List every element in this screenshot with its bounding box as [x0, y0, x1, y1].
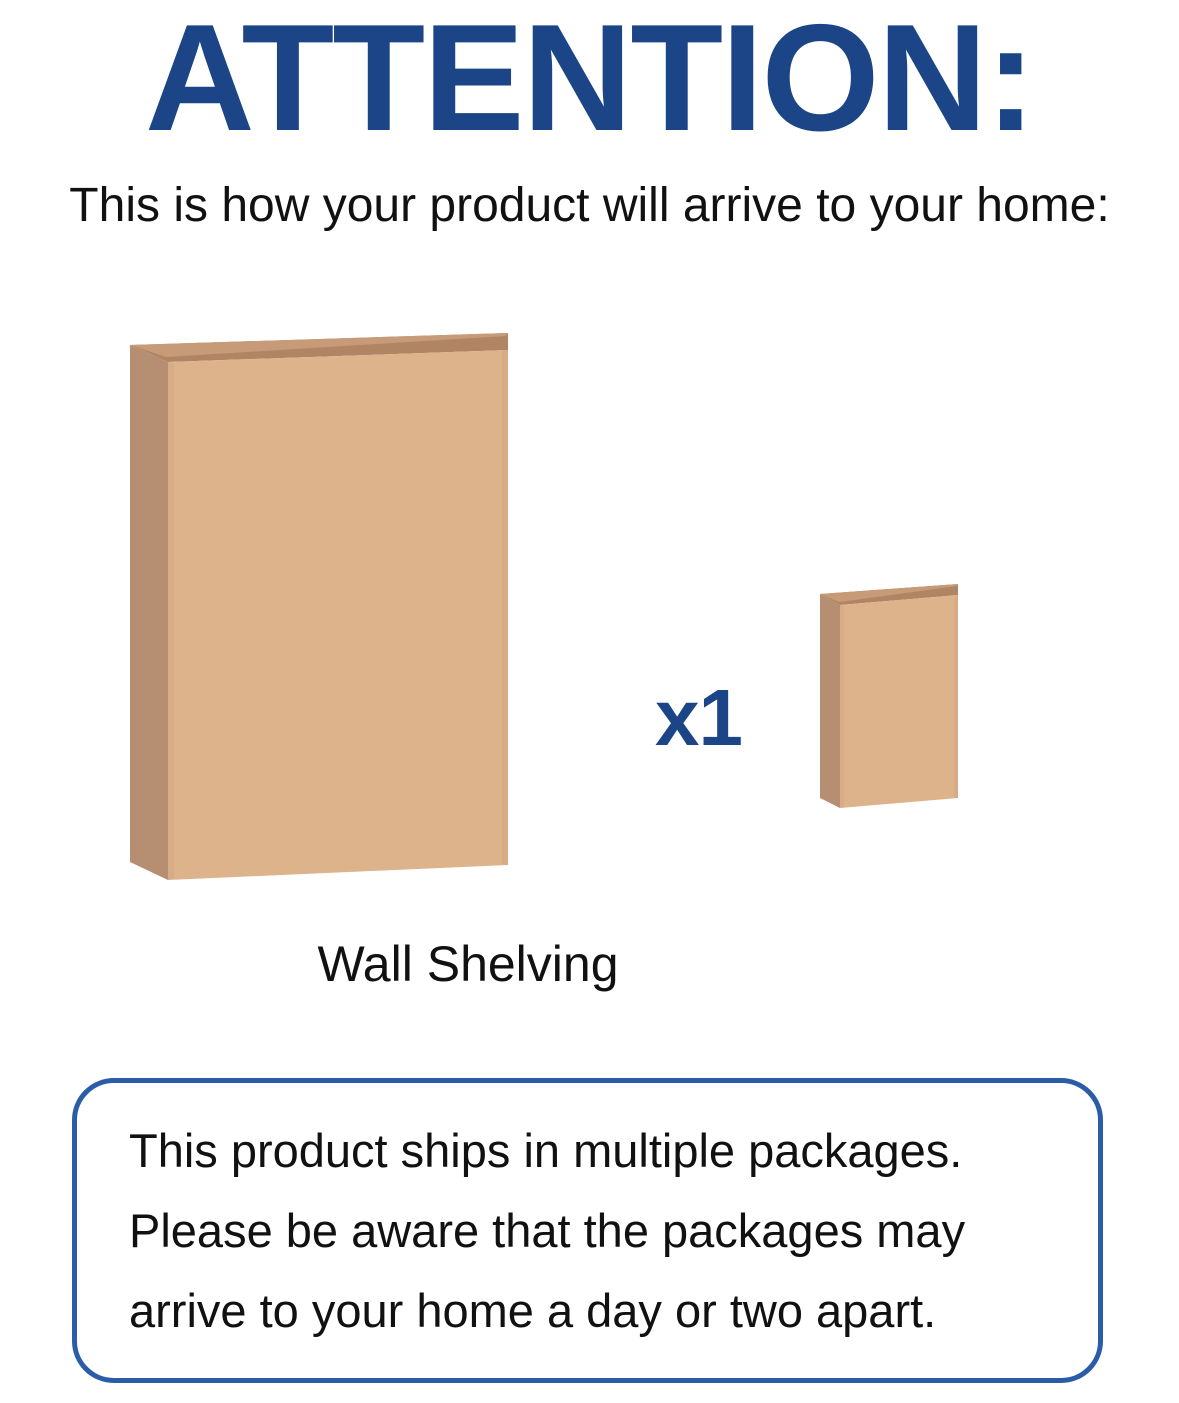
shipping-notice-box: This product ships in multiple packages.… — [72, 1078, 1103, 1383]
package-item-wall-shelving: x1 Wall Shelving — [118, 300, 518, 900]
quantity-label-wall-shelving: x1 — [655, 678, 742, 758]
page-title: ATTENTION: — [0, 0, 1179, 162]
notice-line-1: This product ships in multiple packages. — [129, 1111, 1046, 1191]
package-item-hook: x1 Hook — [810, 570, 980, 820]
notice-line-2: Please be aware that the packages may — [129, 1191, 1046, 1271]
package-caption-wall-shelving: Wall Shelving — [148, 935, 788, 993]
cardboard-box-icon — [810, 570, 980, 820]
cardboard-box-icon — [118, 300, 518, 900]
notice-line-3: arrive to your home a day or two apart. — [129, 1271, 1046, 1351]
page-subtitle: This is how your product will arrive to … — [0, 176, 1179, 236]
packages-illustration: x1 Wall Shelving x1 Hook — [0, 280, 1179, 1010]
